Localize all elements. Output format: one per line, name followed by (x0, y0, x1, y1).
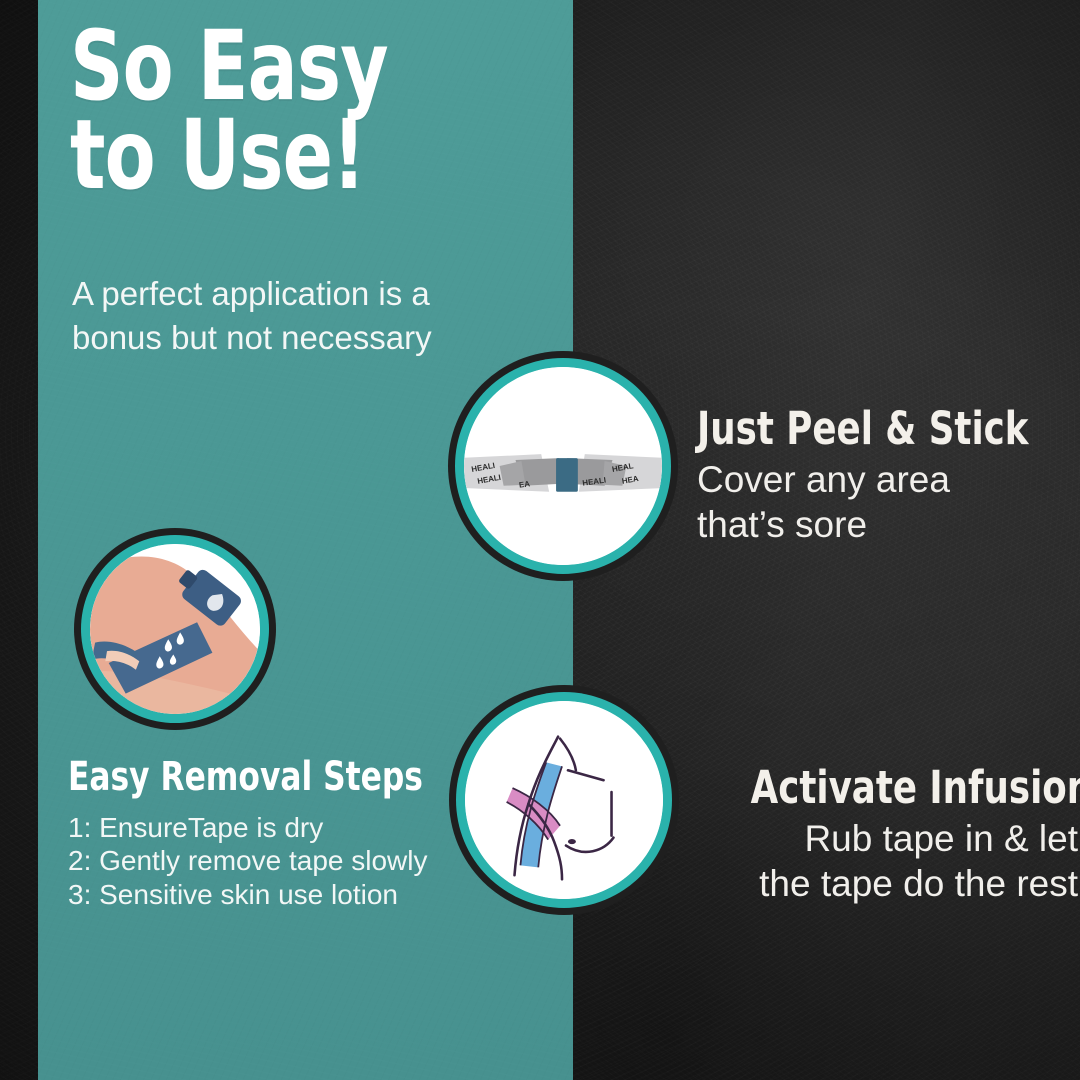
step-activate-infusion-body-line-1: Rub tape in & let (804, 818, 1078, 859)
page-title-line-1: So Easy (70, 22, 474, 111)
peel-stick-image-circle: HEALI HEALI EA HEALI HEAL HEA (464, 367, 662, 565)
easy-removal-steps-block: Easy Removal Steps 1: EnsureTape is dry … (68, 757, 538, 911)
liquid-bottle-drops-on-tape-icon (90, 544, 260, 714)
step-peel-stick-body-line-2: that’s sore (697, 504, 867, 545)
step-activate-infusion-heading: Activate Infusion (751, 765, 1078, 810)
page-subtitle-line-2: bonus but not necessary (72, 319, 432, 356)
step-peel-stick-body: Cover any area that’s sore (697, 457, 1067, 547)
svg-text:EA: EA (518, 479, 530, 489)
step-peel-stick-body-line-1: Cover any area (697, 459, 950, 500)
list-item: 1: EnsureTape is dry (68, 811, 538, 844)
step-peel-stick-text: Just Peel & Stick Cover any area that’s … (697, 406, 1067, 547)
removal-image-circle (90, 544, 260, 714)
easy-removal-steps-heading: Easy Removal Steps (68, 757, 477, 797)
list-item: 3: Sensitive skin use lotion (68, 878, 538, 911)
infographic-poster: So Easy to Use! A perfect application is… (0, 0, 1080, 1080)
page-title: So Easy to Use! (70, 22, 540, 201)
step-activate-infusion-body-line-2: the tape do the rest (759, 863, 1078, 904)
easy-removal-steps-list: 1: EnsureTape is dry 2: Gently remove ta… (68, 811, 538, 911)
page-subtitle-line-1: A perfect application is a (72, 275, 430, 312)
page-title-line-2: to Use! (70, 111, 474, 200)
step-peel-stick-heading: Just Peel & Stick (697, 406, 1023, 451)
step-activate-infusion-text: Activate Infusion Rub tape in & let the … (706, 765, 1078, 906)
tape-peel-backing-icon: HEALI HEALI EA HEALI HEAL HEA (464, 367, 662, 565)
page-subtitle: A perfect application is a bonus but not… (72, 272, 532, 359)
list-item: 2: Gently remove tape slowly (68, 844, 538, 877)
step-activate-infusion-body: Rub tape in & let the tape do the rest (706, 816, 1078, 906)
